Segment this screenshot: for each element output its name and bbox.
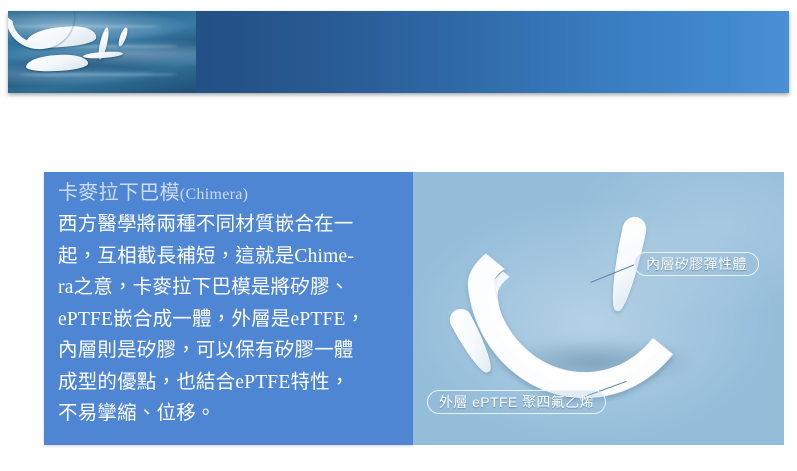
panel-body-line: 內層則是矽膠，可以保有矽膠一體 <box>58 335 401 367</box>
panel-body-line: 西方醫學將兩種不同材質嵌合在一 <box>58 209 401 241</box>
description-panel: 卡麥拉下巴模(Chimera) 西方醫學將兩種不同材質嵌合在一 起，互相截長補短… <box>44 172 413 445</box>
callout-inner-layer: 內層矽膠彈性體 <box>634 252 759 276</box>
panel-title-cjk: 卡麥拉下巴模 <box>58 182 180 204</box>
panel-body: 西方醫學將兩種不同材質嵌合在一 起，互相截長補短，這就是Chime- ra之意，… <box>58 209 401 430</box>
panel-body-line: ePTFE嵌合成一體，外層是ePTFE， <box>58 304 401 336</box>
content-row: 卡麥拉下巴模(Chimera) 西方醫學將兩種不同材質嵌合在一 起，互相截長補短… <box>44 172 784 445</box>
water-streak <box>18 73 178 76</box>
panel-body-line: 不易攣縮、位移。 <box>58 398 401 430</box>
banner-product-photo <box>8 11 196 93</box>
panel-body-line: 成型的優點，也結合ePTFE特性， <box>58 367 401 399</box>
callout-outer-layer: 外層 ePTFE 聚四氟乙烯 <box>427 390 606 414</box>
panel-title: 卡麥拉下巴模(Chimera) <box>58 180 401 208</box>
panel-title-latin: (Chimera) <box>180 186 248 203</box>
figure-panel: 內層矽膠彈性體 外層 ePTFE 聚四氟乙烯 <box>413 172 784 445</box>
header-banner <box>8 11 789 93</box>
panel-body-line: 起，互相截長補短，這就是Chime- <box>58 241 401 273</box>
panel-body-line: ra之意，卡麥拉下巴模是將矽膠、 <box>58 272 401 304</box>
